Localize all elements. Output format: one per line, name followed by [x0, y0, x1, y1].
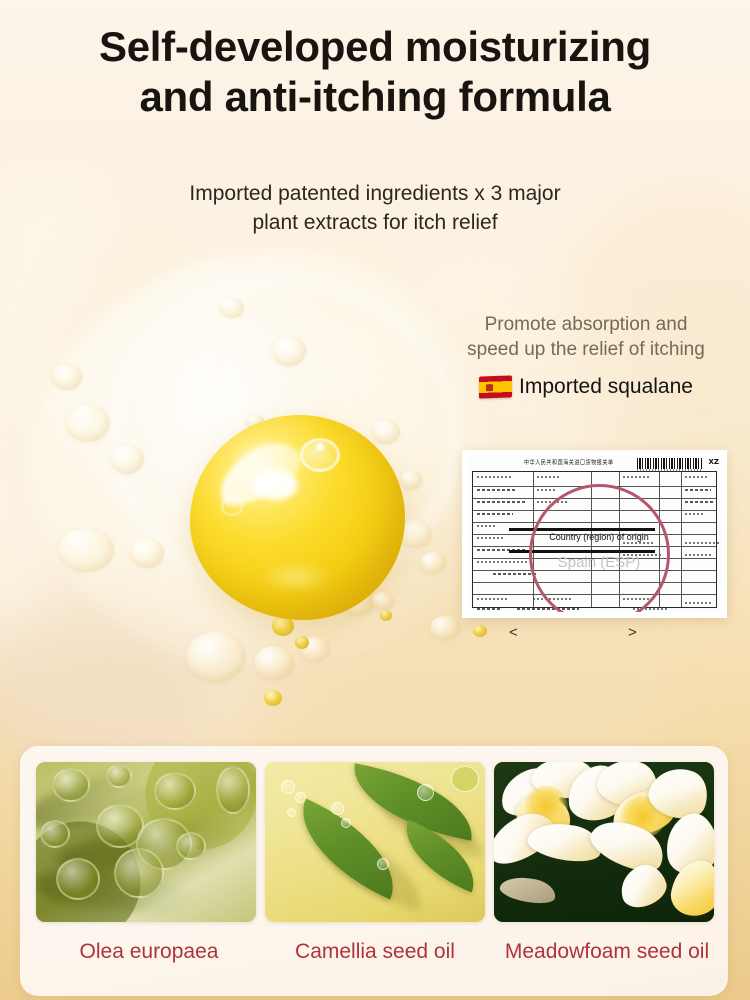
promote-text-line-2: speed up the relief of itching: [436, 337, 736, 362]
golden-bubble: [473, 625, 487, 637]
ingredient-label-meadowfoam-seed-oil: Meadowfoam seed oil: [488, 940, 726, 964]
oil-bubble: [372, 420, 400, 444]
origin-certificate-card[interactable]: 中华人民共和国海关进口货物报关单 XZ: [462, 450, 727, 618]
oil-bubble: [110, 444, 144, 474]
golden-bubble: [264, 690, 282, 706]
ingredient-thumbnails: [36, 762, 716, 922]
plumeria-flowers-image[interactable]: [494, 762, 714, 922]
product-feature-page: Self-developed moisturizing and anti-itc…: [0, 0, 750, 1000]
page-subtitle-line-1: Imported patented ingredients x 3 major: [0, 180, 750, 209]
olive-oil-droplets-image[interactable]: [36, 762, 256, 922]
camellia-leaves-oil-image[interactable]: [265, 762, 485, 922]
page-title-line-2: and anti-itching formula: [0, 72, 750, 122]
page-title: Self-developed moisturizing and anti-itc…: [0, 22, 750, 121]
oil-bubble: [420, 552, 446, 574]
ingredient-labels: Olea europaea Camellia seed oil Meadowfo…: [36, 940, 726, 964]
origin-value: Spain (ESP): [535, 554, 663, 571]
certificate-header: 中华人民共和国海关进口货物报关单 XZ: [468, 457, 721, 470]
certificate-code: XZ: [709, 458, 719, 466]
oil-bubble: [220, 298, 244, 318]
imported-squalane-row: Imported squalane: [436, 375, 736, 399]
promote-text-line-1: Promote absorption and: [436, 312, 736, 337]
oil-bubble: [186, 632, 246, 682]
droplet-specular-dot: [316, 443, 324, 451]
promote-absorption-text: Promote absorption and speed up the reli…: [436, 312, 736, 363]
golden-bubble: [380, 610, 392, 621]
page-subtitle: Imported patented ingredients x 3 major …: [0, 180, 750, 238]
barcode-icon: [637, 458, 703, 469]
origin-label: Country (region) of origin: [535, 532, 663, 542]
certificate-header-text: 中华人民共和国海关进口货物报关单: [524, 458, 614, 467]
golden-bubble: [295, 636, 309, 649]
imported-squalane-label: Imported squalane: [519, 375, 693, 399]
oil-bubble: [400, 470, 422, 490]
ingredient-label-olea-europaea: Olea europaea: [36, 940, 262, 964]
page-title-line-1: Self-developed moisturizing: [0, 22, 750, 72]
droplet-inner-ring: [221, 497, 243, 516]
origin-annotation-circle: [529, 484, 670, 612]
page-subtitle-line-2: plant extracts for itch relief: [0, 209, 750, 238]
oil-bubble: [52, 364, 82, 390]
oil-bubble: [130, 538, 164, 568]
carousel-prev-button[interactable]: <: [509, 624, 518, 641]
oil-bubble: [254, 646, 294, 680]
spain-flag-icon: [479, 375, 512, 398]
ingredient-label-camellia-seed-oil: Camellia seed oil: [262, 940, 488, 964]
certificate-body: 中华人民共和国海关进口货物报关单 XZ: [468, 456, 721, 612]
droplet-bottom-glow: [258, 560, 334, 594]
oil-bubble: [372, 592, 394, 610]
carousel-next-button[interactable]: >: [628, 624, 637, 641]
oil-bubble: [272, 336, 306, 366]
oil-bubble: [430, 616, 460, 640]
oil-bubble: [58, 528, 114, 572]
certificate-table: Country (region) of origin Spain (ESP): [472, 471, 717, 608]
droplet-highlight-tail: [252, 470, 298, 500]
oil-bubble: [66, 404, 110, 442]
